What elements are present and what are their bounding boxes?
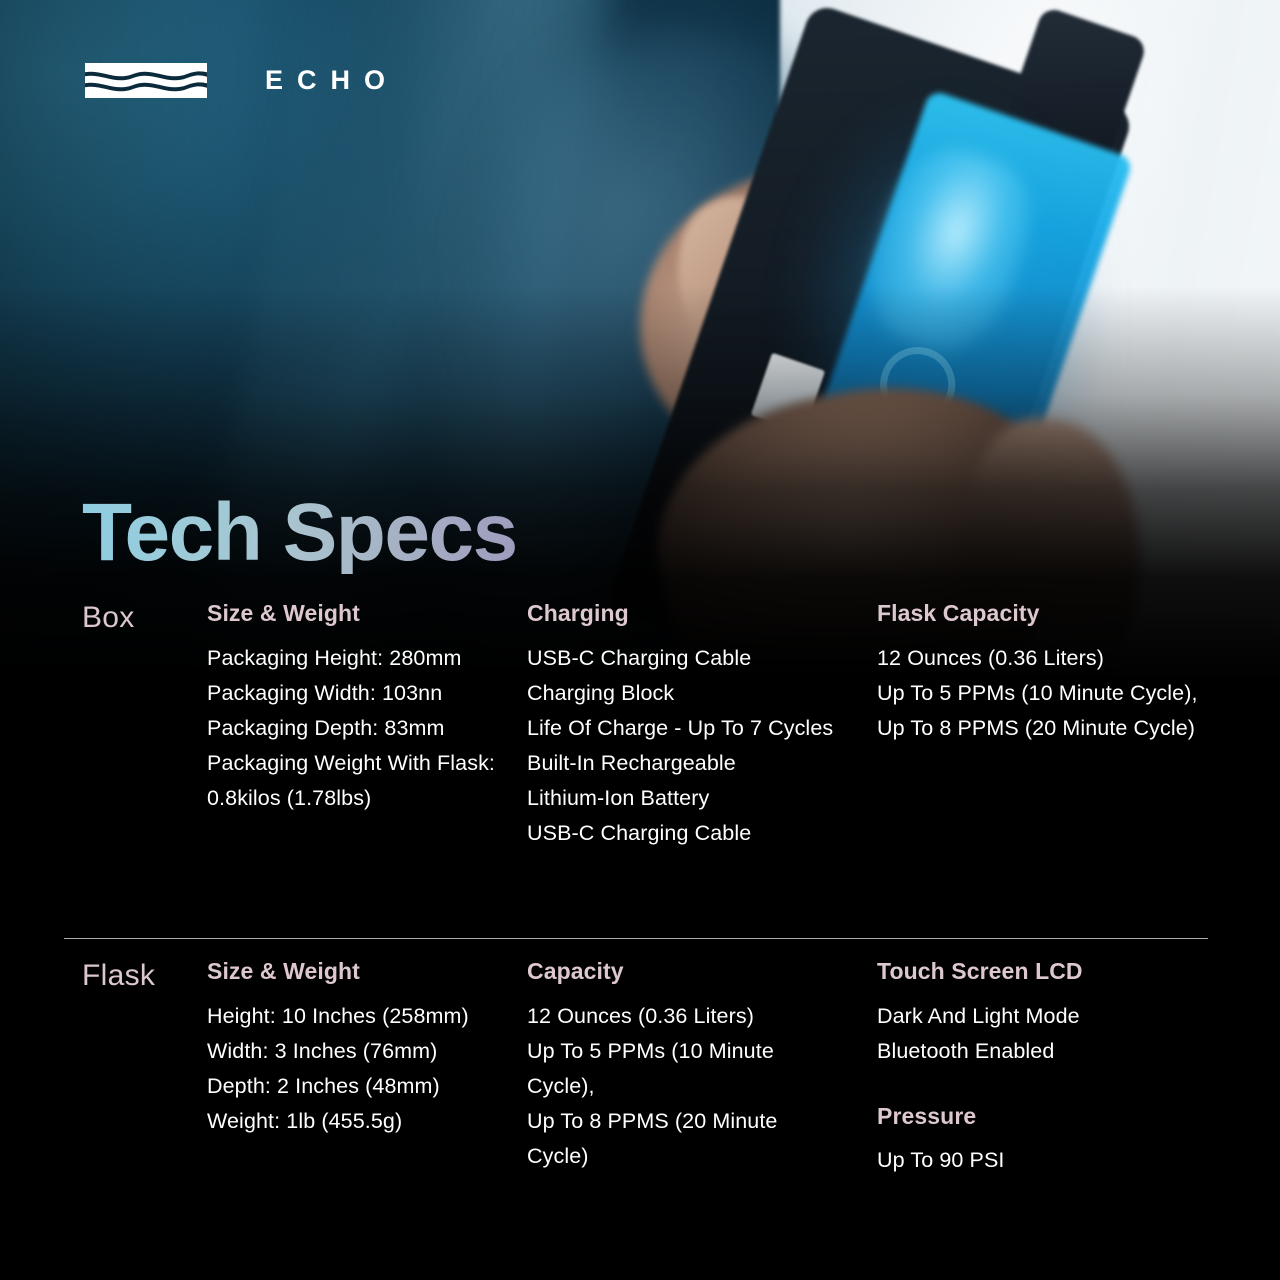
spec-heading: Flask Capacity <box>877 600 1217 628</box>
spec-line: Up To 5 PPMs (10 Minute Cycle), Up To 8 … <box>877 676 1217 746</box>
spec-heading: Size & Weight <box>207 958 507 986</box>
spec-line: Packaging Width: 103nn <box>207 676 507 711</box>
spec-line: USB-C Charging Cable <box>527 816 857 851</box>
spec-line: USB-C Charging Cable <box>527 641 857 676</box>
spec-heading: Size & Weight <box>207 600 507 628</box>
tech-specs-page: E C ECHO Tech Specs Box <box>0 0 1280 1280</box>
spec-section-box: Box Size & Weight Packaging Height: 280m… <box>0 600 1280 930</box>
photo-left-fade <box>0 0 1280 680</box>
spec-line: Packaging Height: 280mm <box>207 641 507 676</box>
spec-line: 12 Ounces (0.36 Liters) <box>527 999 795 1034</box>
spec-column-box-size-weight: Size & Weight Packaging Height: 280mm Pa… <box>207 600 507 816</box>
spec-line: 12 Ounces (0.36 Liters) <box>877 641 1217 676</box>
brand-name: ECHO <box>265 67 399 94</box>
spec-column-flask-size-weight: Size & Weight Height: 10 Inches (258mm) … <box>207 958 507 1139</box>
spec-line: Up To 8 PPMS (20 Minute Cycle) <box>527 1104 795 1174</box>
spec-line: Dark And Light Mode <box>877 999 1217 1034</box>
spec-line: Lithium-Ion Battery <box>527 781 857 816</box>
spec-column-flask-display: Touch Screen LCD Dark And Light Mode Blu… <box>877 958 1217 1178</box>
spec-line: Depth: 2 Inches (48mm) <box>207 1069 507 1104</box>
spec-line: Up To 5 PPMs (10 Minute Cycle), <box>527 1034 795 1104</box>
spec-heading: Touch Screen LCD <box>877 958 1217 986</box>
spec-line: Built-In Rechargeable <box>527 746 857 781</box>
spec-heading: Capacity <box>527 958 795 986</box>
spec-line: Charging Block <box>527 676 857 711</box>
spec-line: Bluetooth Enabled <box>877 1034 1217 1069</box>
spec-line: Packaging Weight With Flask: 0.8kilos (1… <box>207 746 507 816</box>
spec-line: Up To 90 PSI <box>877 1143 1217 1178</box>
section-label-box: Box <box>82 600 135 636</box>
spec-heading-pressure: Pressure <box>877 1103 1217 1131</box>
page-title: Tech Specs <box>82 492 517 574</box>
section-divider <box>64 938 1208 939</box>
hero-product-photo: E C <box>0 0 1280 680</box>
spec-line: Height: 10 Inches (258mm) <box>207 999 507 1034</box>
spec-heading: Charging <box>527 600 857 628</box>
spec-line: Width: 3 Inches (76mm) <box>207 1034 507 1069</box>
spec-line: Life Of Charge - Up To 7 Cycles <box>527 711 857 746</box>
spec-panel: Box Size & Weight Packaging Height: 280m… <box>0 600 1280 1258</box>
spec-section-flask: Flask Size & Weight Height: 10 Inches (2… <box>0 958 1280 1258</box>
spec-column-box-flask-capacity: Flask Capacity 12 Ounces (0.36 Liters) U… <box>877 600 1217 746</box>
spec-line: Weight: 1lb (455.5g) <box>207 1104 507 1139</box>
wave-mark-icon <box>85 63 207 98</box>
section-label-flask: Flask <box>82 958 155 994</box>
spec-line: Packaging Depth: 83mm <box>207 711 507 746</box>
spec-column-flask-capacity: Capacity 12 Ounces (0.36 Liters) Up To 5… <box>527 958 795 1174</box>
brand-bar: ECHO <box>85 63 399 98</box>
spec-column-box-charging: Charging USB-C Charging Cable Charging B… <box>527 600 857 851</box>
